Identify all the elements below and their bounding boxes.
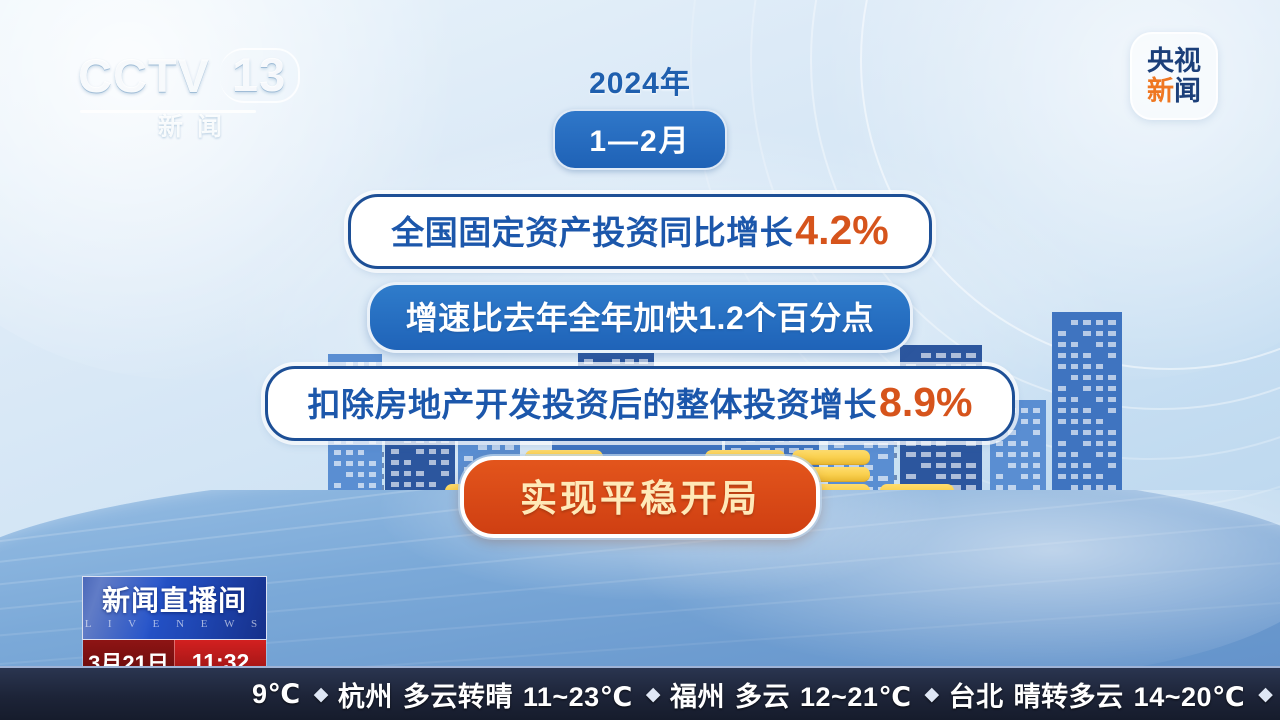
broadcast-screen: CCTV 13 新闻 央 视 新 闻 2024年 1—2月 全国固定资产投资同比… bbox=[0, 0, 1280, 720]
fact-bar-1: 全国固定资产投资同比增长 4.2% bbox=[348, 194, 931, 269]
fact-bar-2: 增速比去年全年加快1.2个百分点 bbox=[367, 282, 914, 353]
ticker-separator: ◆ bbox=[1258, 683, 1273, 706]
ticker-separator: ◆ bbox=[925, 683, 940, 706]
ticker-condition: 多云转晴 bbox=[403, 682, 513, 712]
conclusion-banner: 实现平稳开局 bbox=[460, 456, 820, 538]
ticker-temperature: 11~23℃ bbox=[523, 682, 633, 712]
ticker-city: 台北 bbox=[949, 682, 1004, 712]
fact-bar-3-text: 扣除房地产开发投资后的整体投资增长 bbox=[308, 378, 878, 426]
ticker-entry: 福州多云12~21℃ bbox=[670, 675, 912, 714]
ticker-temperature: 14~20℃ bbox=[1134, 682, 1246, 712]
ticker-separator: ◆ bbox=[314, 683, 329, 706]
fact-bar-2-text: 增速比去年全年加快1.2个百分点 bbox=[406, 293, 875, 339]
ticker-condition: 多云 bbox=[735, 682, 790, 712]
program-name-cn: 新闻直播间 bbox=[102, 587, 247, 615]
ticker-entry: 台北晴转多云14~20℃ bbox=[949, 675, 1246, 714]
ticker-entry: 杭州多云转晴11~23℃ bbox=[338, 675, 633, 714]
program-name-plate: 新闻直播间 L I V E N E W S bbox=[82, 576, 267, 640]
ticker-city: 杭州 bbox=[338, 682, 393, 712]
conclusion-text: 实现平稳开局 bbox=[520, 478, 760, 519]
ticker-separator: ◆ bbox=[646, 683, 661, 706]
headline-period-pill: 1—2月 bbox=[553, 109, 726, 170]
fact-bar-1-value: 4.2% bbox=[795, 207, 888, 254]
headline-stack: 2024年 1—2月 全国固定资产投资同比增长 4.2% 增速比去年全年加快1.… bbox=[0, 58, 1280, 538]
fact-bar-3-value: 8.9% bbox=[879, 379, 972, 426]
weather-ticker[interactable]: 9℃ ◆杭州多云转晴11~23℃◆福州多云12~21℃◆台北晴转多云14~20℃… bbox=[0, 666, 1280, 720]
program-name-en: L I V E N E W S bbox=[85, 618, 264, 630]
ticker-city: 福州 bbox=[670, 682, 725, 712]
ticker-condition: 晴转多云 bbox=[1014, 682, 1124, 712]
weather-ticker-content: 9℃ ◆杭州多云转晴11~23℃◆福州多云12~21℃◆台北晴转多云14~20℃… bbox=[0, 675, 1280, 714]
fact-bar-1-text: 全国固定资产投资同比增长 bbox=[391, 206, 793, 254]
ticker-lead-fragment: 9℃ bbox=[252, 679, 301, 710]
ticker-temperature: 12~21℃ bbox=[800, 682, 912, 712]
fact-bar-3: 扣除房地产开发投资后的整体投资增长 8.9% bbox=[265, 366, 1016, 441]
headline-year: 2024年 bbox=[589, 58, 691, 102]
